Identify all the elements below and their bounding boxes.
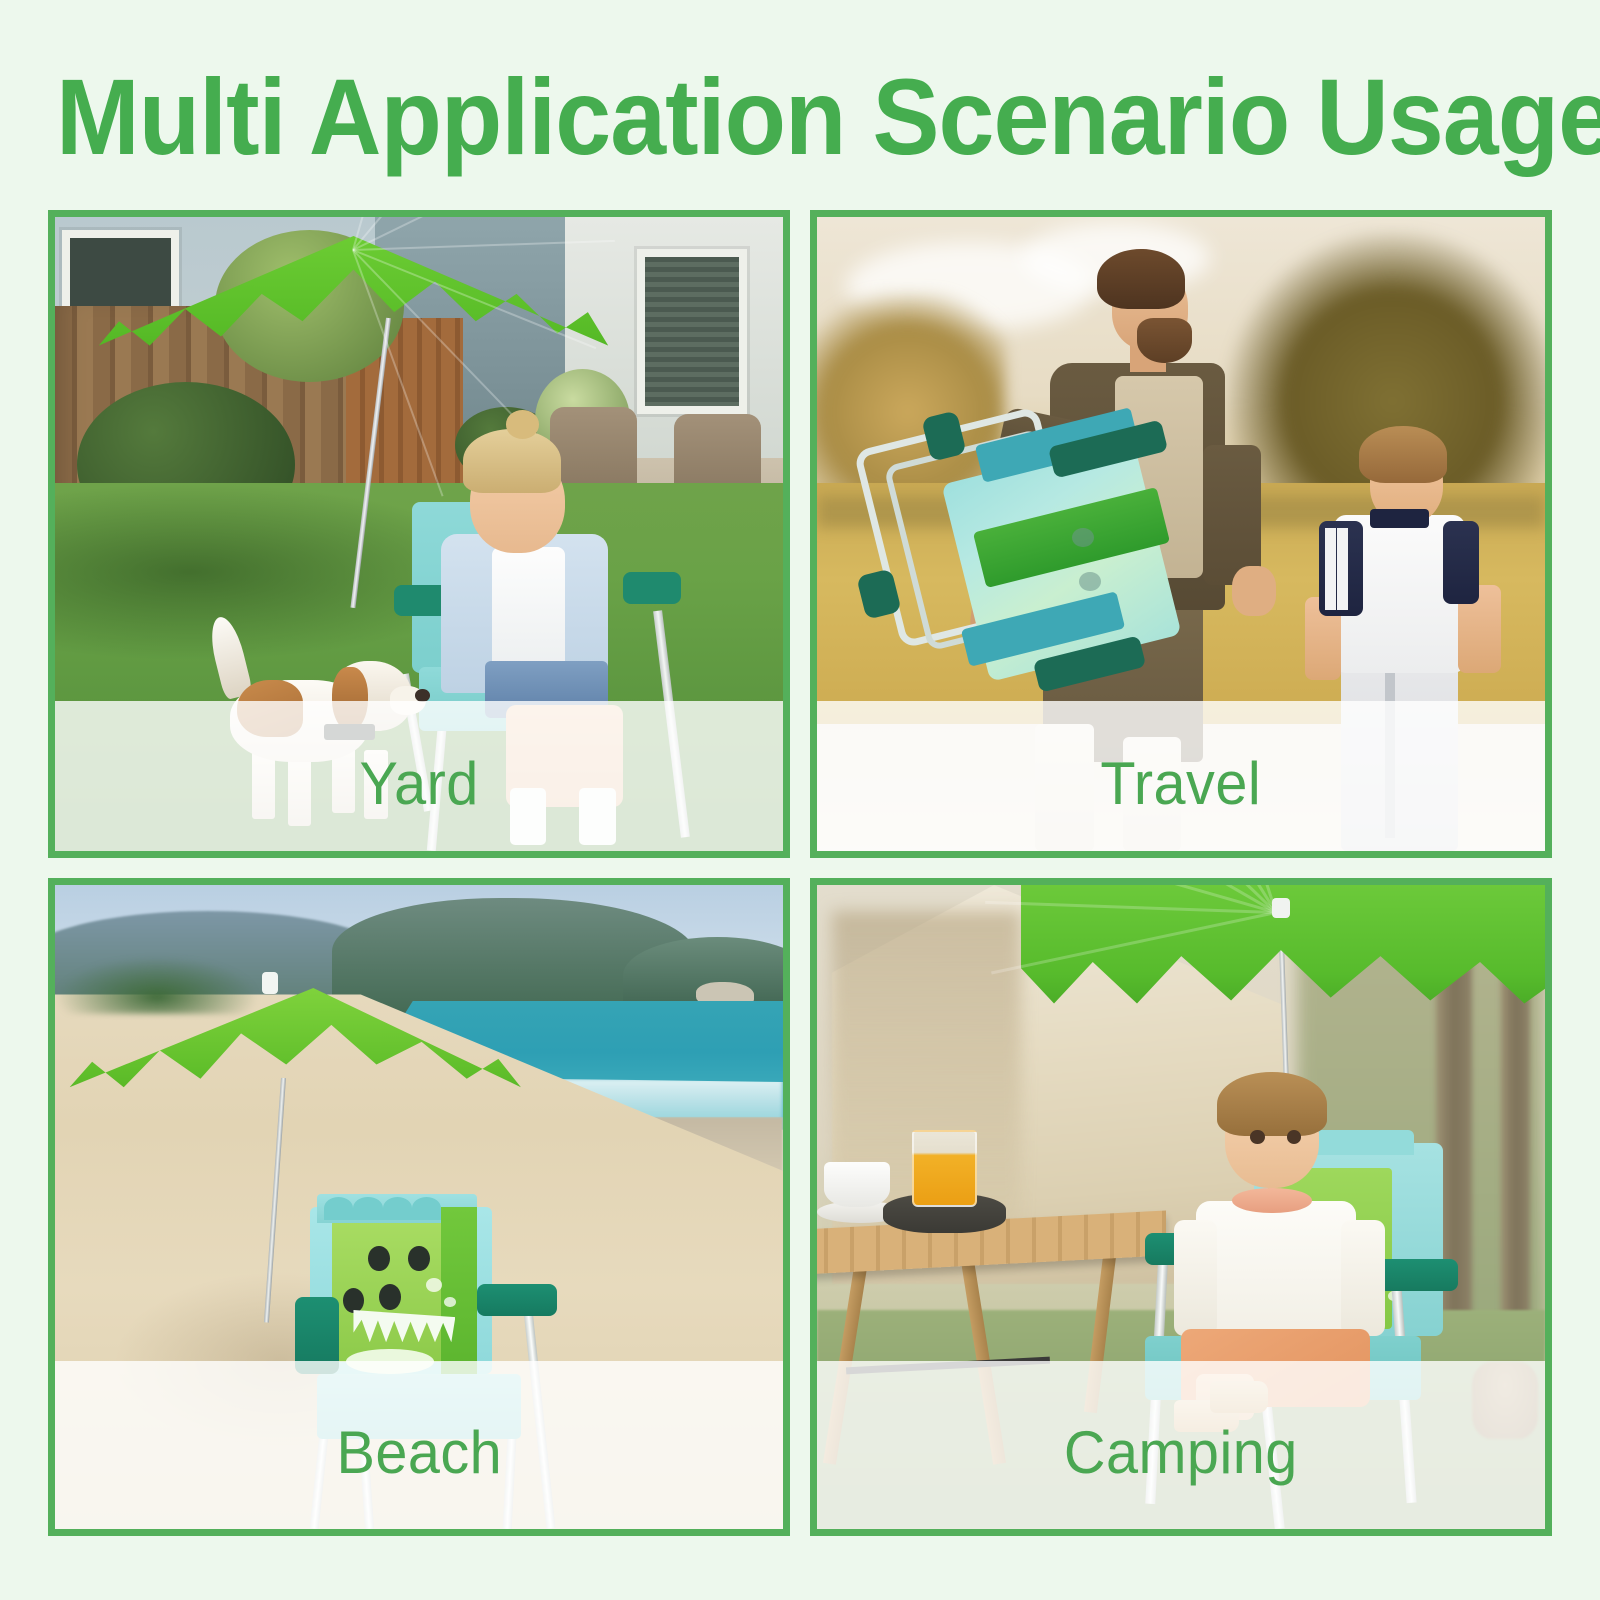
caption-label-camping: Camping	[1064, 1418, 1298, 1487]
coffee-cup-icon	[824, 1162, 890, 1207]
scenario-tile-camping[interactable]: Camping	[810, 878, 1552, 1536]
page-title: Multi Application Scenario Usage	[56, 62, 1544, 172]
caption-label-beach: Beach	[336, 1418, 502, 1487]
caption-label-travel: Travel	[1101, 749, 1262, 818]
scenario-tile-yard[interactable]: Yard	[48, 210, 790, 858]
caption-band-yard: Yard	[55, 701, 783, 851]
scenario-tile-travel[interactable]: Travel	[810, 210, 1552, 858]
scenario-tile-beach[interactable]: Beach	[48, 878, 790, 1536]
caption-band-camping: Camping	[817, 1361, 1545, 1529]
caption-band-travel: Travel	[817, 701, 1545, 851]
juice-glass-icon	[912, 1130, 978, 1207]
scenario-grid: Yard	[48, 210, 1552, 1548]
caption-label-yard: Yard	[359, 749, 478, 818]
caption-band-beach: Beach	[55, 1361, 783, 1529]
